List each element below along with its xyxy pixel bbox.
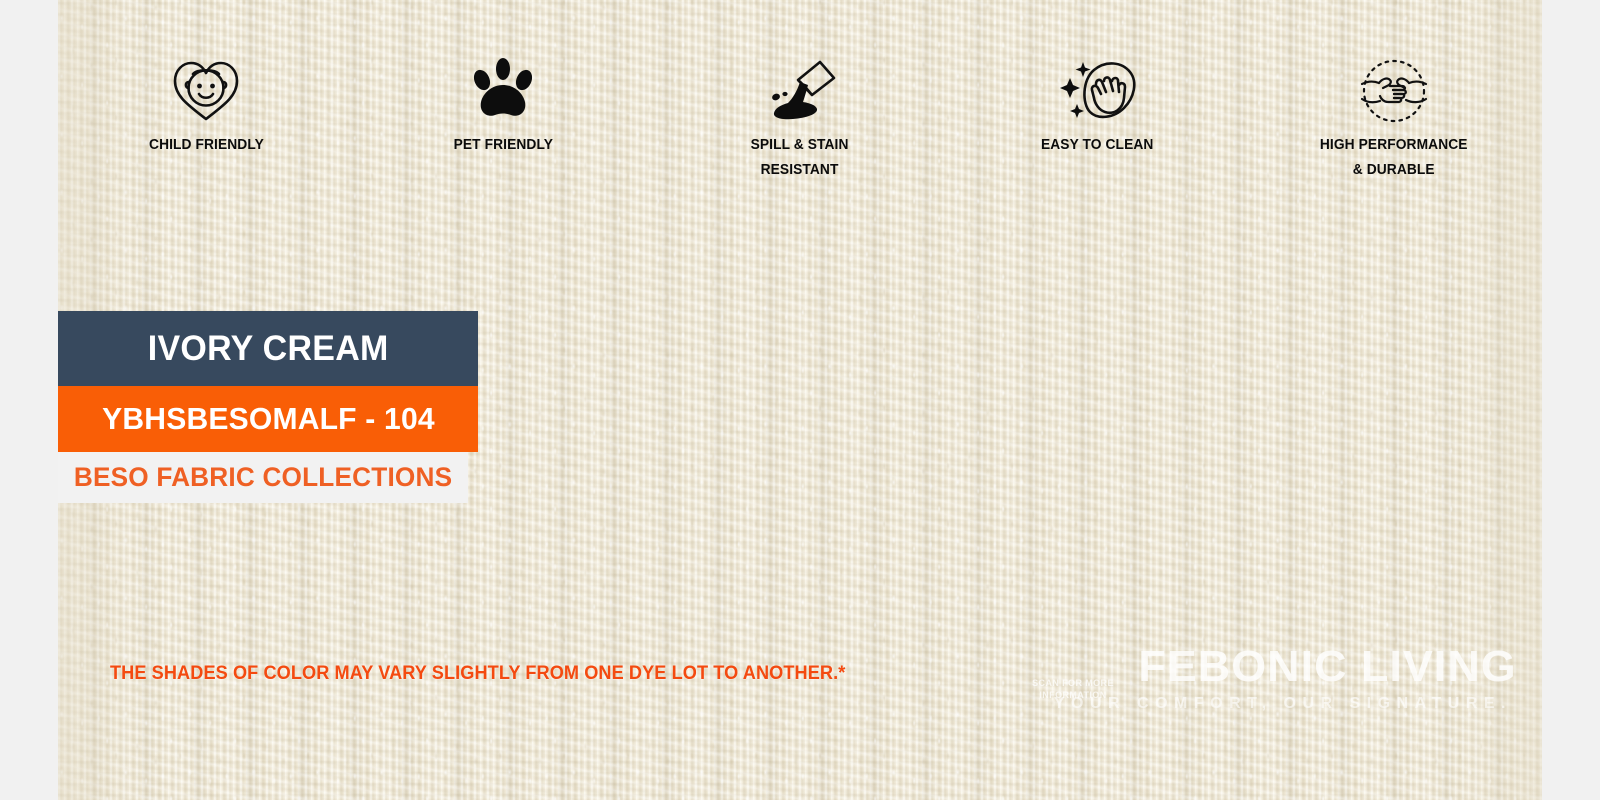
feature-label: HIGH PERFORMANCE & DURABLE [1320,133,1468,183]
swatch-label-plates: IVORY CREAM YBHSBESOMALF - 104 BESO FABR… [58,311,478,503]
feature-label: EASY TO CLEAN [1041,133,1153,158]
dye-lot-disclaimer: THE SHADES OF COLOR MAY VARY SLIGHTLY FR… [110,662,845,685]
handshake-circle-icon [1354,55,1434,127]
product-code-text: YBHSBESOMALF - 104 [102,401,435,437]
feature-pet-friendly: PET FRIENDLY [403,55,603,158]
paw-print-icon [468,55,538,127]
product-code-plate: YBHSBESOMALF - 104 [58,386,478,452]
feature-label: PET FRIENDLY [453,133,552,158]
feature-spill-stain-resistant: SPILL & STAIN RESISTANT [700,55,900,183]
feature-child-friendly: CHILD FRIENDLY [106,55,306,158]
color-name-plate: IVORY CREAM [58,311,478,386]
feature-high-performance-durable: HIGH PERFORMANCE & DURABLE [1294,55,1494,183]
fabric-swatch-card: CHILD FRIENDLY PET FRIENDLY [0,0,1600,800]
feature-label: CHILD FRIENDLY [149,133,264,158]
hand-wiping-sparkle-icon [1056,55,1138,127]
child-in-heart-icon [170,55,242,127]
collection-name-plate: BESO FABRIC COLLECTIONS [58,452,468,503]
collection-name-text: BESO FABRIC COLLECTIONS [74,462,452,493]
color-name-text: IVORY CREAM [148,329,389,369]
feature-label: SPILL & STAIN RESISTANT [751,133,849,183]
feature-icon-strip: CHILD FRIENDLY PET FRIENDLY [58,55,1542,205]
spilling-cup-icon [760,55,840,127]
feature-easy-to-clean: EASY TO CLEAN [997,55,1197,158]
